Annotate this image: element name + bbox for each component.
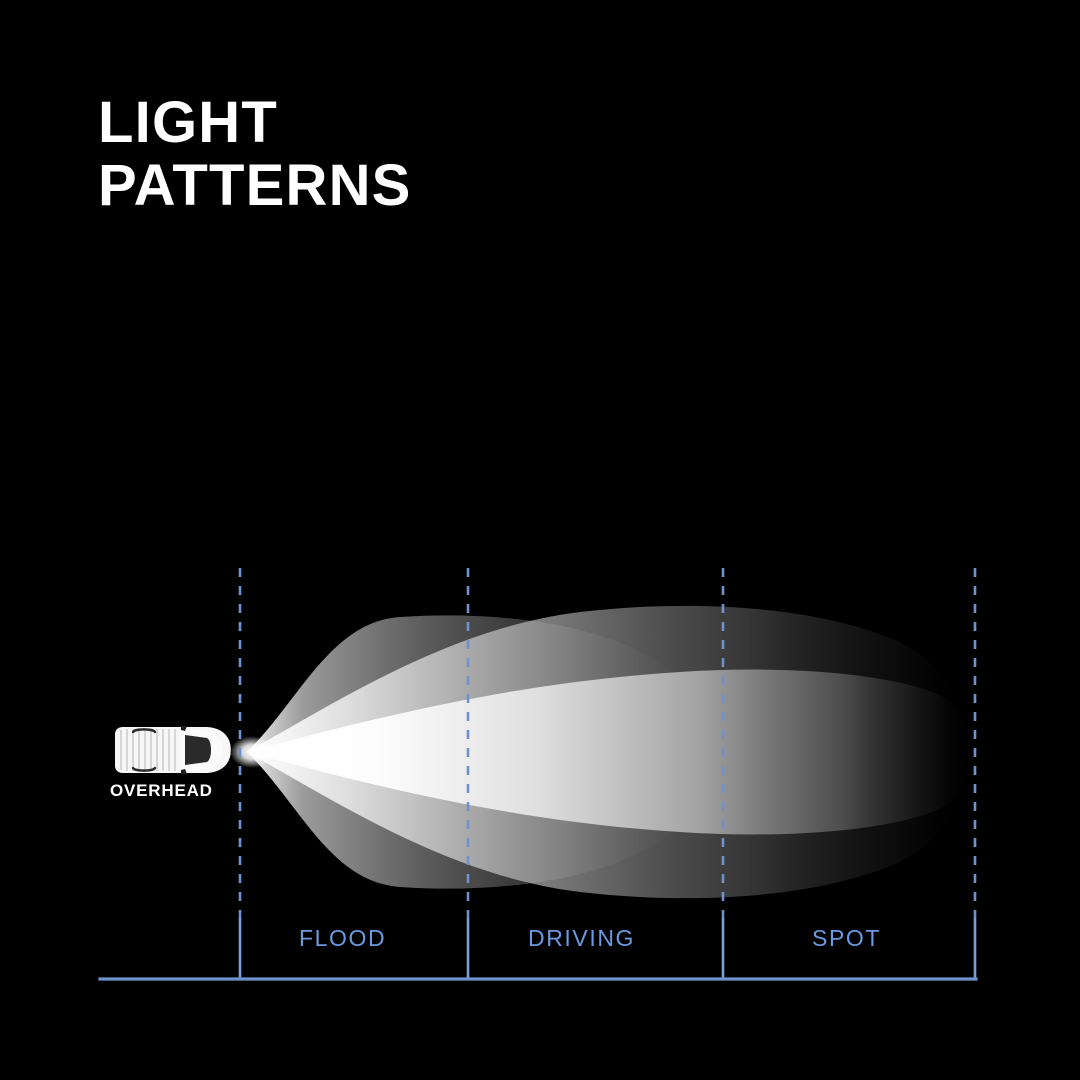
beam-diagram [0, 0, 1080, 1080]
overhead-label: OVERHEAD [110, 781, 213, 801]
beam-origin-core [230, 736, 274, 768]
light-patterns-infographic: LIGHT PATTERNS [0, 0, 1080, 1080]
vehicle-icon [111, 724, 235, 776]
truck-windshield [185, 735, 211, 765]
zone-label-driving: DRIVING [528, 925, 635, 952]
zone-label-spot: SPOT [812, 925, 881, 952]
zone-label-flood: FLOOD [299, 925, 386, 952]
